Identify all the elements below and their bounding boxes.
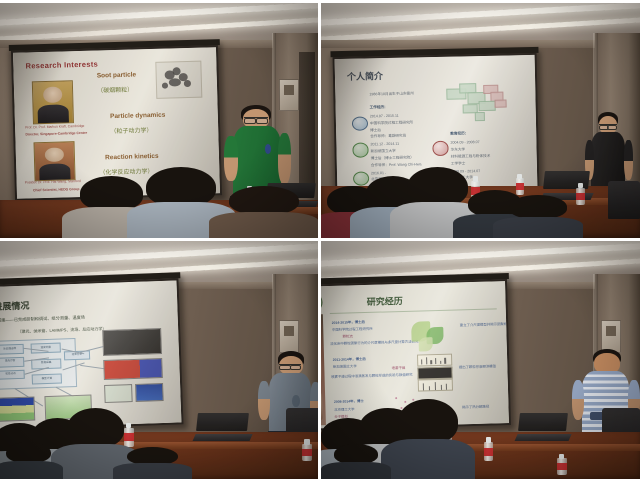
slide-subtitle: 1、实验平台搭建——已完成研制和调试、组分测量、温度场 — [0, 314, 85, 324]
water-bottle — [302, 439, 312, 461]
result-plot — [417, 366, 453, 379]
work-entry-2-org: 新加坡国立大学 — [370, 149, 395, 155]
experience-2-org: 新加坡国立大学 — [333, 363, 357, 369]
water-bottle — [557, 454, 567, 476]
gutter-horizontal — [0, 238, 640, 241]
china-map-graphic — [443, 74, 524, 127]
sem-image — [102, 327, 163, 355]
size-distribution-image — [135, 383, 164, 402]
portrait-caption-3: Postdoc Dr. Prof. Hai Wang, Stanford — [24, 179, 80, 185]
publication-thumbnail — [0, 396, 35, 422]
work-entry-2-period: 2011.12 - 2014.11 — [370, 142, 399, 147]
tshirt-print — [292, 395, 300, 408]
photo-collage: Research Interests Prof. Dr. Prof. Marku… — [0, 0, 640, 480]
work-entry-1-role: 博士后 — [370, 128, 381, 133]
portrait-photo-wang — [33, 141, 75, 181]
portrait-caption-2: Director, Singapore-Cambridge Centre — [25, 131, 87, 137]
audience-member — [127, 447, 178, 480]
audience-member — [146, 167, 216, 238]
title-divider — [330, 308, 498, 314]
photo-strip — [321, 314, 327, 425]
edu-entry-1-degree: 工学学士 — [451, 161, 465, 166]
workflow-node: 模型计算 — [32, 373, 63, 384]
slide-item-2-zh: （粒子动力学） — [110, 124, 152, 134]
portrait-photo-kraft — [32, 80, 74, 124]
institution-badge — [352, 116, 368, 130]
door-frame — [299, 52, 315, 190]
polo-chest-logo — [265, 144, 272, 154]
edu-entry-1-period: 2004.09 - 2008.07 — [450, 140, 479, 145]
audience-member — [6, 442, 51, 480]
experience-1-topic: 颗粒流 — [343, 333, 353, 338]
temperature-field-image — [103, 357, 163, 379]
spectrum-image — [104, 384, 133, 403]
office-chair — [608, 181, 640, 219]
work-entry-1-period: 2014.07 - 2015.11 — [370, 114, 399, 119]
work-entry-3-period: 2016.01 - — [371, 170, 386, 174]
edu-entry-1-role: 材料能源工程与粉体技术 — [450, 153, 490, 159]
water-bottle — [484, 437, 494, 461]
slide-title: 个人简介 — [347, 69, 383, 83]
slide-progress-status: 二、进展情况 1、实验平台搭建——已完成研制和调试、组分测量、温度场 （激光、纳… — [0, 280, 182, 429]
experience-2-detail: 喷雾干燥过程中液滴蒸发与颗粒形成的实验与数值研究 — [332, 371, 413, 378]
portrait-caption-4: Chief Scientist, HEDG Group — [33, 186, 79, 191]
experience-1-period: 2014-2015年，博士后 — [332, 319, 365, 325]
experience-2-result: 提出了颗粒形貌预测模型 — [459, 363, 496, 369]
wall-trim-band — [321, 40, 640, 48]
wall-control-plate — [279, 320, 298, 353]
experience-1-detail: 流化床中颗粒团聚行为的介尺度模拟与多尺度计算方法研究 — [331, 338, 419, 345]
audience-member — [229, 186, 299, 238]
panel-top-right: 个人简介 1986年10月出生于山东德州 — [321, 0, 640, 238]
institution-badge — [352, 143, 368, 157]
slide-item-3-zh: （化学反应动力学） — [99, 165, 153, 176]
panel-bottom-right: 研究经历 2014-2015年，博士后 中国科学院过程工程研究所 颗粒流 流化床… — [321, 241, 640, 480]
audience-member — [334, 444, 379, 480]
work-history-heading: 工作经历： — [369, 105, 387, 110]
work-entry-1-advisor: 合作导师：葛蔚研究员 — [370, 134, 406, 140]
experience-3-period: 2008-2014年，博士 — [334, 398, 364, 404]
soot-particle-micrograph — [155, 60, 203, 98]
portrait-caption-1: Prof. Dr. Prof. Markus Kraft, Cambridge — [25, 123, 84, 129]
work-entry-1-org: 中国科学院过程工程研究所 — [370, 120, 413, 126]
border-top — [0, 0, 640, 3]
result-plot — [417, 353, 453, 366]
workflow-node: 激光诊断 — [0, 356, 25, 367]
experience-3-org: 北京理工大学 — [335, 405, 355, 411]
profile-intro: 1986年10月出生于山东德州 — [369, 91, 413, 97]
water-bottle — [576, 183, 585, 204]
edu-entry-1-org: 华东大学 — [450, 147, 464, 152]
education-heading: 教育经历： — [450, 131, 468, 136]
water-bottle — [124, 423, 134, 447]
institution-badge — [432, 141, 448, 155]
slide-title: 二、进展情况 — [0, 298, 30, 313]
workflow-node: 粒径分布 — [0, 369, 26, 380]
panel-top-left: Research Interests Prof. Dr. Prof. Marku… — [0, 0, 318, 238]
particle-graphic — [419, 337, 434, 352]
experience-3-result: 揭示了热分解路径 — [462, 403, 489, 409]
work-entry-2-role: 博士后（博士工程研究院） — [370, 155, 413, 161]
experience-1-org: 中国科学院过程工程研究所 — [332, 326, 373, 332]
experience-1-result: 建立了介尺度模型并揭示团聚机理 — [460, 320, 509, 326]
university-logo — [321, 291, 323, 312]
workflow-node: 温度测量 — [31, 342, 62, 353]
experience-2-period: 2011-2014年，博士后 — [333, 356, 366, 362]
audience-member — [398, 399, 459, 480]
audience-member — [509, 195, 566, 238]
panel-bottom-left: 二、进展情况 1、实验平台搭建——已完成研制和调试、组分测量、温度场 （激光、纳… — [0, 241, 318, 480]
laptop — [197, 413, 248, 442]
slide-item-1-zh: （碳烟颗粒） — [97, 84, 133, 94]
slide-title: 研究经历 — [367, 294, 403, 308]
slide-item-1-en: Soot particle — [96, 71, 136, 79]
workflow-node: 反应器进样 — [0, 344, 25, 355]
laptop — [519, 413, 567, 442]
slide-subtitle-secondary: （激光、纳米管、LAMMPS、流场、反应动力学） — [18, 325, 107, 334]
slide-item-3-en: Reaction kinetics — [105, 152, 159, 160]
result-plot — [418, 379, 454, 392]
experience-2-topic: 喷雾干燥 — [392, 364, 406, 369]
slide-title: Research Interests — [25, 59, 98, 70]
slide-item-2-en: Particle dynamics — [110, 111, 165, 120]
